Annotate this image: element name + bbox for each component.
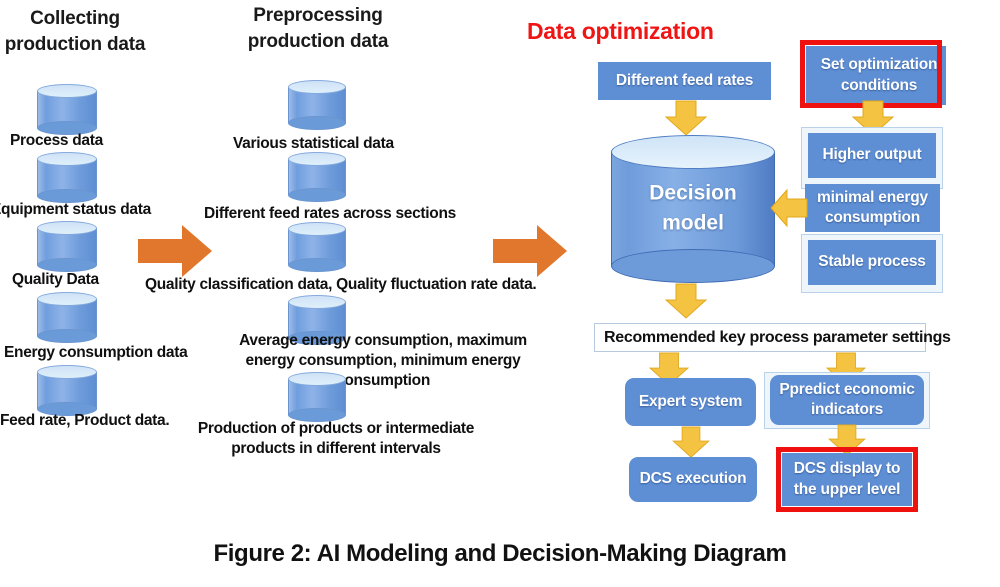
database-cylinder-icon [288,222,346,272]
preprocessing-item-label-1: Different feed rates across sections [204,204,456,224]
preprocessing-item-label-4: Production of products or intermediate p… [196,419,476,459]
stable-process-box[interactable]: Stable process [808,240,936,285]
expert-system-label: Expert system [639,392,742,412]
cylinder-bottom [611,249,775,283]
orange-right-arrow-icon [136,222,214,280]
preprocessing-item-label-2: Quality classification data, Quality flu… [145,275,536,295]
higher-output-label: Higher output [823,145,922,165]
decision-model-line2: model [611,209,775,239]
set-optimization-conditions-highlight [800,40,942,108]
yellow-left-arrow-icon [770,184,808,232]
cylinder-bottom [288,258,346,272]
collecting-item-label-2: Quality Data [12,270,99,290]
predict-economic-indicators-box[interactable]: Ppredict economic indicators [770,375,924,425]
orange-right-arrow-icon [491,222,569,280]
cylinder-bottom [288,188,346,202]
database-cylinder-icon [288,152,346,202]
cylinder-top [37,221,97,235]
cylinder-top [37,292,97,306]
preprocessing-heading-line2: production data [232,29,404,55]
cylinder-top [288,372,346,386]
minimal-energy-consumption-box[interactable]: minimal energy consumption [805,184,940,232]
collecting-item-label-1: Equipment status data [0,200,151,220]
collecting-heading-line2: production data [0,32,150,58]
figure-canvas: Collecting production data Process data … [0,0,1000,587]
database-cylinder-icon [37,84,97,135]
figure-caption: Figure 2: AI Modeling and Decision-Makin… [0,540,1000,568]
database-cylinder-icon [37,221,97,272]
yellow-down-arrow-icon [665,100,707,136]
preprocessing-heading-line1: Preprocessing [232,3,404,29]
database-cylinder-icon [37,152,97,203]
decision-model-cylinder: Decision model [611,135,775,283]
preprocessing-item-label-0: Various statistical data [233,134,394,154]
recommendation-box[interactable]: Recommended key process parameter settin… [594,323,926,352]
data-optimization-title: Data optimization [527,18,714,45]
predict-economic-indicators-line1: Ppredict economic [779,380,914,400]
predict-economic-indicators-line2: indicators [779,400,914,420]
decision-model-caption: Decision model [611,179,775,240]
decision-model-line1: Decision [611,179,775,209]
stable-process-label: Stable process [818,252,925,272]
cylinder-bottom [288,116,346,130]
database-cylinder-icon [37,365,97,416]
different-feed-rates-label: Different feed rates [616,71,753,91]
collecting-item-label-3: Energy consumption data [4,343,187,363]
cylinder-top [288,152,346,166]
preprocessing-heading: Preprocessing production data [232,3,404,54]
different-feed-rates-box[interactable]: Different feed rates [598,62,771,100]
higher-output-box[interactable]: Higher output [808,133,936,178]
cylinder-bottom [37,329,97,343]
collecting-heading: Collecting production data [0,6,150,57]
collecting-item-label-4: Feed rate, Product data. [0,411,169,431]
cylinder-top [37,152,97,166]
cylinder-top [288,222,346,236]
yellow-down-arrow-icon [672,426,710,458]
database-cylinder-icon [37,292,97,343]
cylinder-top [288,295,346,309]
cylinder-top [288,80,346,94]
collecting-heading-line1: Collecting [0,6,150,32]
cylinder-top [37,365,97,379]
dcs-execution-label: DCS execution [640,469,747,489]
expert-system-box[interactable]: Expert system [625,378,756,426]
cylinder-top [611,135,775,169]
yellow-down-arrow-icon [665,283,707,319]
cylinder-top [37,84,97,98]
minimal-energy-consumption-label: minimal energy consumption [805,188,940,228]
preprocessing-item-label-3: Average energy consumption, maximum ener… [213,331,553,390]
dcs-display-highlight [776,447,918,512]
recommendation-label: Recommended key process parameter settin… [595,329,951,347]
database-cylinder-icon [288,80,346,130]
database-cylinder-icon [288,372,346,422]
dcs-execution-box[interactable]: DCS execution [629,457,757,502]
collecting-item-label-0: Process data [10,131,103,151]
